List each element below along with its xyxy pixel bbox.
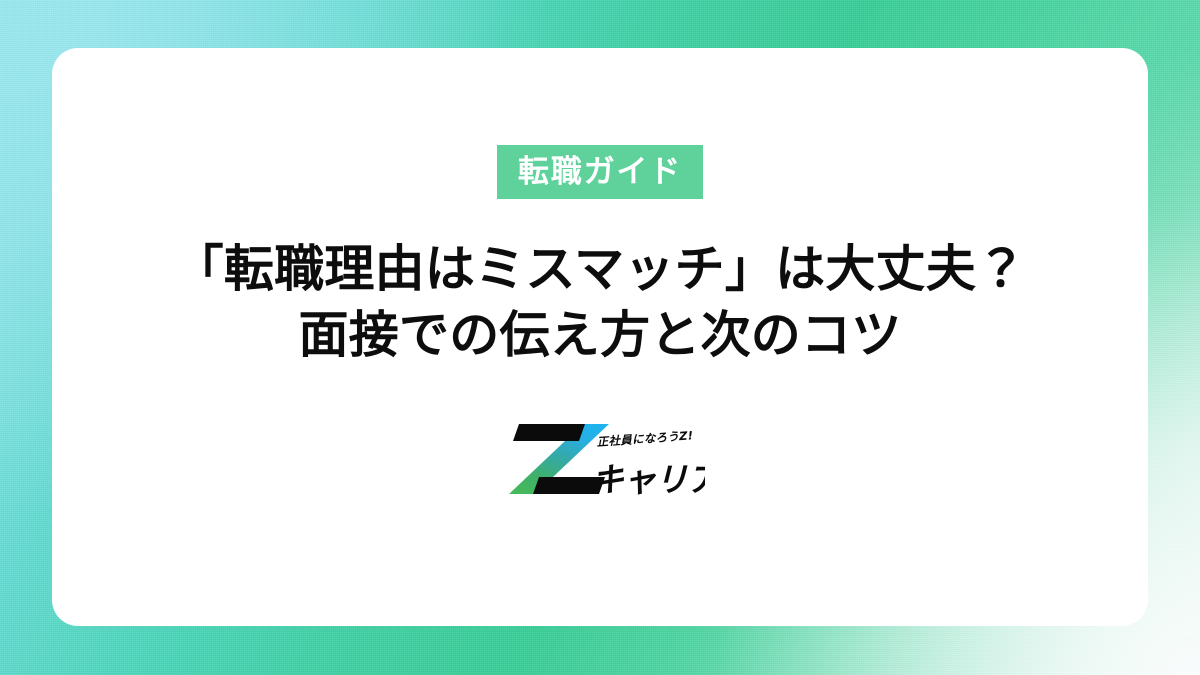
page-title-line-2: 面接での伝え方と次のコツ — [174, 302, 1027, 368]
brand-logo: 正社員になろうZ! キャリア — [495, 416, 705, 502]
logo-wordmark: キャリア — [591, 460, 705, 499]
logo-z-top-bar — [513, 424, 585, 441]
page-title-line-1: 「転職理由はミスマッチ」は大丈夫？ — [174, 236, 1027, 302]
page-title: 「転職理由はミスマッチ」は大丈夫？ 面接での伝え方と次のコツ — [174, 236, 1027, 368]
category-badge: 転職ガイド — [497, 145, 703, 199]
content-card: 転職ガイド 「転職理由はミスマッチ」は大丈夫？ 面接での伝え方と次のコツ — [52, 48, 1148, 626]
logo-tagline: 正社員になろうZ! — [596, 428, 694, 449]
brand-logo-svg: 正社員になろうZ! キャリア — [495, 416, 705, 502]
